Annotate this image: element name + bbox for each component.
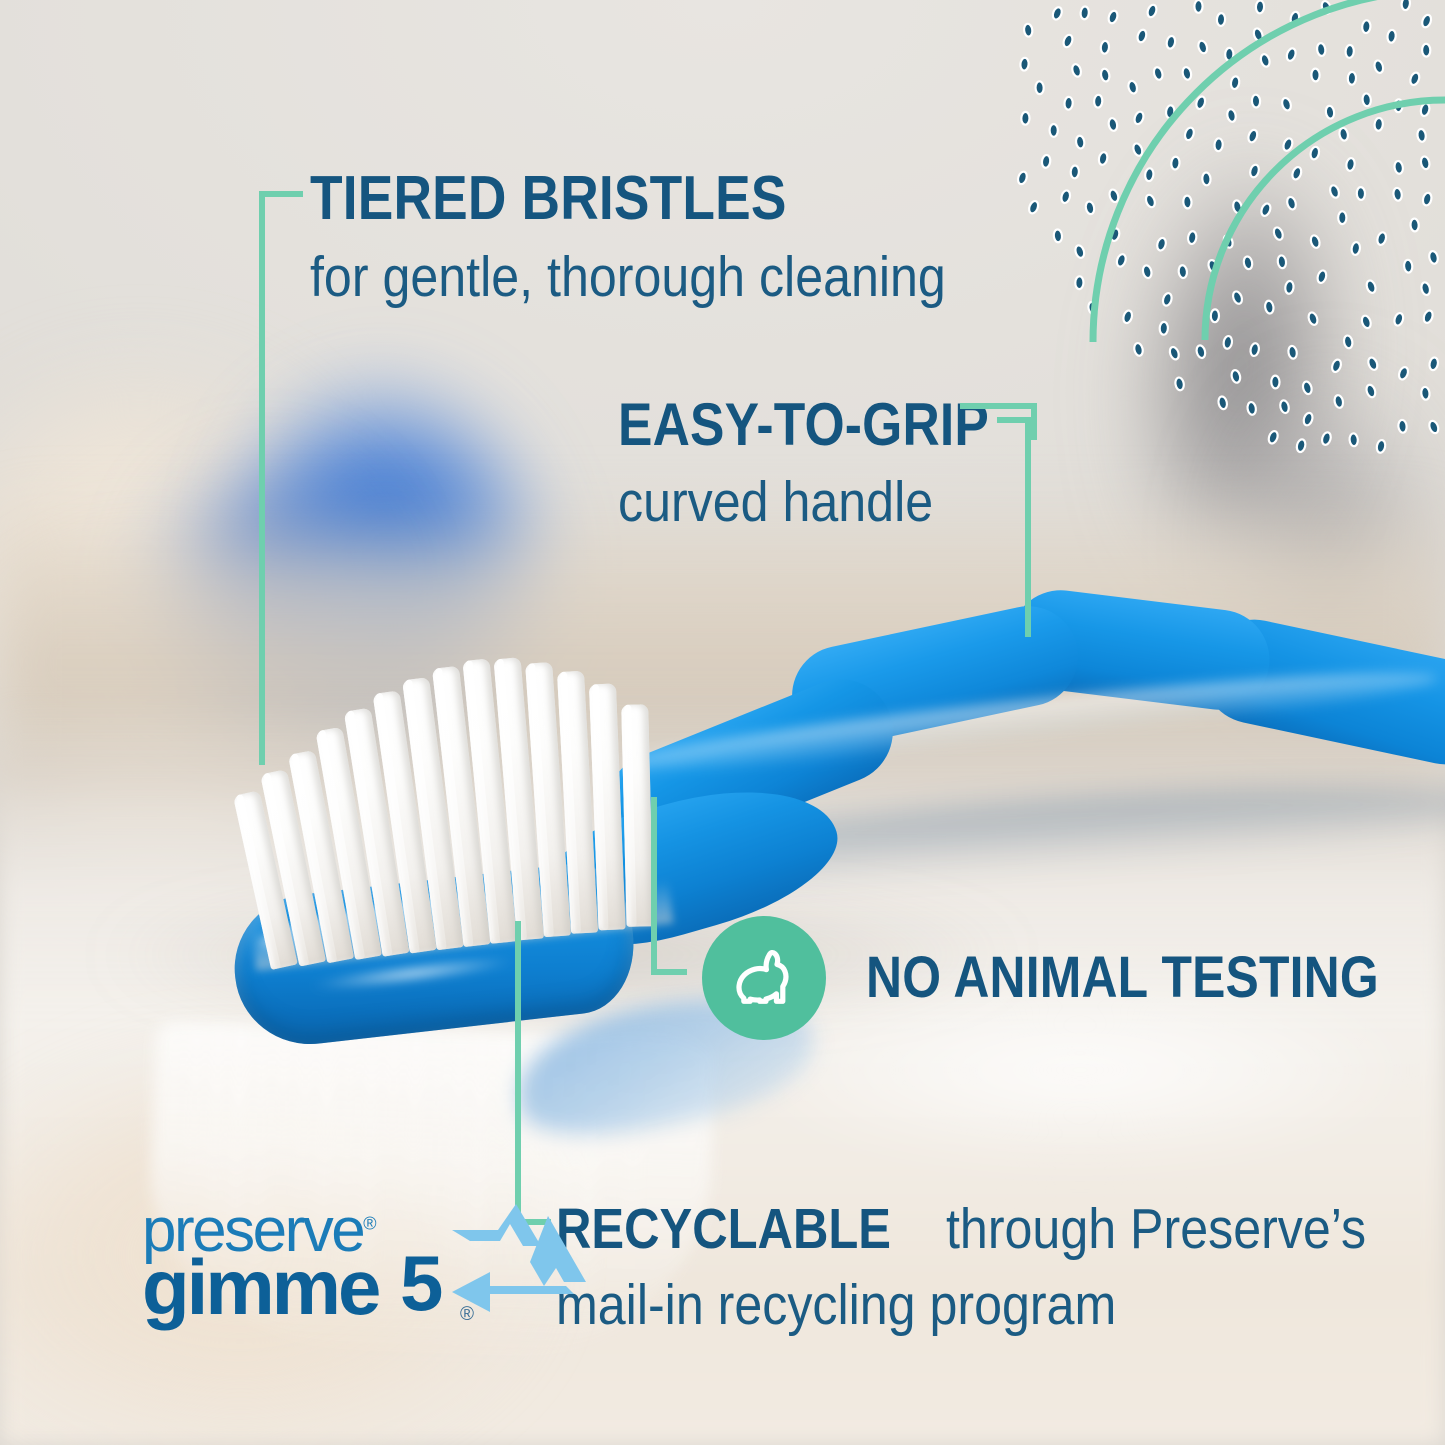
callout-recyclable: RECYCLABLE through Preserve’s mail-in re… xyxy=(556,1196,1423,1338)
connector-no-animal-testing xyxy=(654,800,684,972)
logo-numeral-five: 5 xyxy=(400,1244,443,1322)
callout-no-animal-testing: NO ANIMAL TESTING xyxy=(702,916,1445,1040)
infographic-canvas: TIERED BRISTLES for gentle, thorough cle… xyxy=(0,0,1445,1445)
arc-inner xyxy=(1205,100,1445,340)
concentric-arc-lines xyxy=(985,0,1445,480)
callout-subtitle: mail-in recycling program xyxy=(556,1272,1319,1338)
rabbit-icon xyxy=(725,939,803,1017)
rabbit-icon-badge xyxy=(702,916,826,1040)
callout-title-rest: through Preserve’s xyxy=(946,1196,1366,1262)
callout-tiered-bristles: TIERED BRISTLES for gentle, thorough cle… xyxy=(310,168,1033,306)
connector-tiered-bristles xyxy=(262,194,300,762)
connector-recyclable xyxy=(518,924,548,1222)
callout-title-line: RECYCLABLE through Preserve’s xyxy=(556,1196,1423,1262)
logo-registered-mark-1: ® xyxy=(363,1213,374,1233)
callout-title: NO ANIMAL TESTING xyxy=(866,949,1379,1007)
arc-outer xyxy=(1093,0,1445,342)
logo-word-gimme: gimme xyxy=(142,1248,378,1326)
logo-registered-mark-2: ® xyxy=(460,1304,474,1326)
callout-subtitle: for gentle, thorough cleaning xyxy=(310,248,946,306)
callout-title: TIERED BRISTLES xyxy=(310,168,931,230)
callout-title: EASY-TO-GRIP xyxy=(618,395,989,455)
mint-corner-bracket xyxy=(960,400,1050,440)
preserve-gimme-5-logo: preserve® gimme 5 ® xyxy=(138,1200,498,1340)
callout-subtitle: curved handle xyxy=(618,473,998,531)
